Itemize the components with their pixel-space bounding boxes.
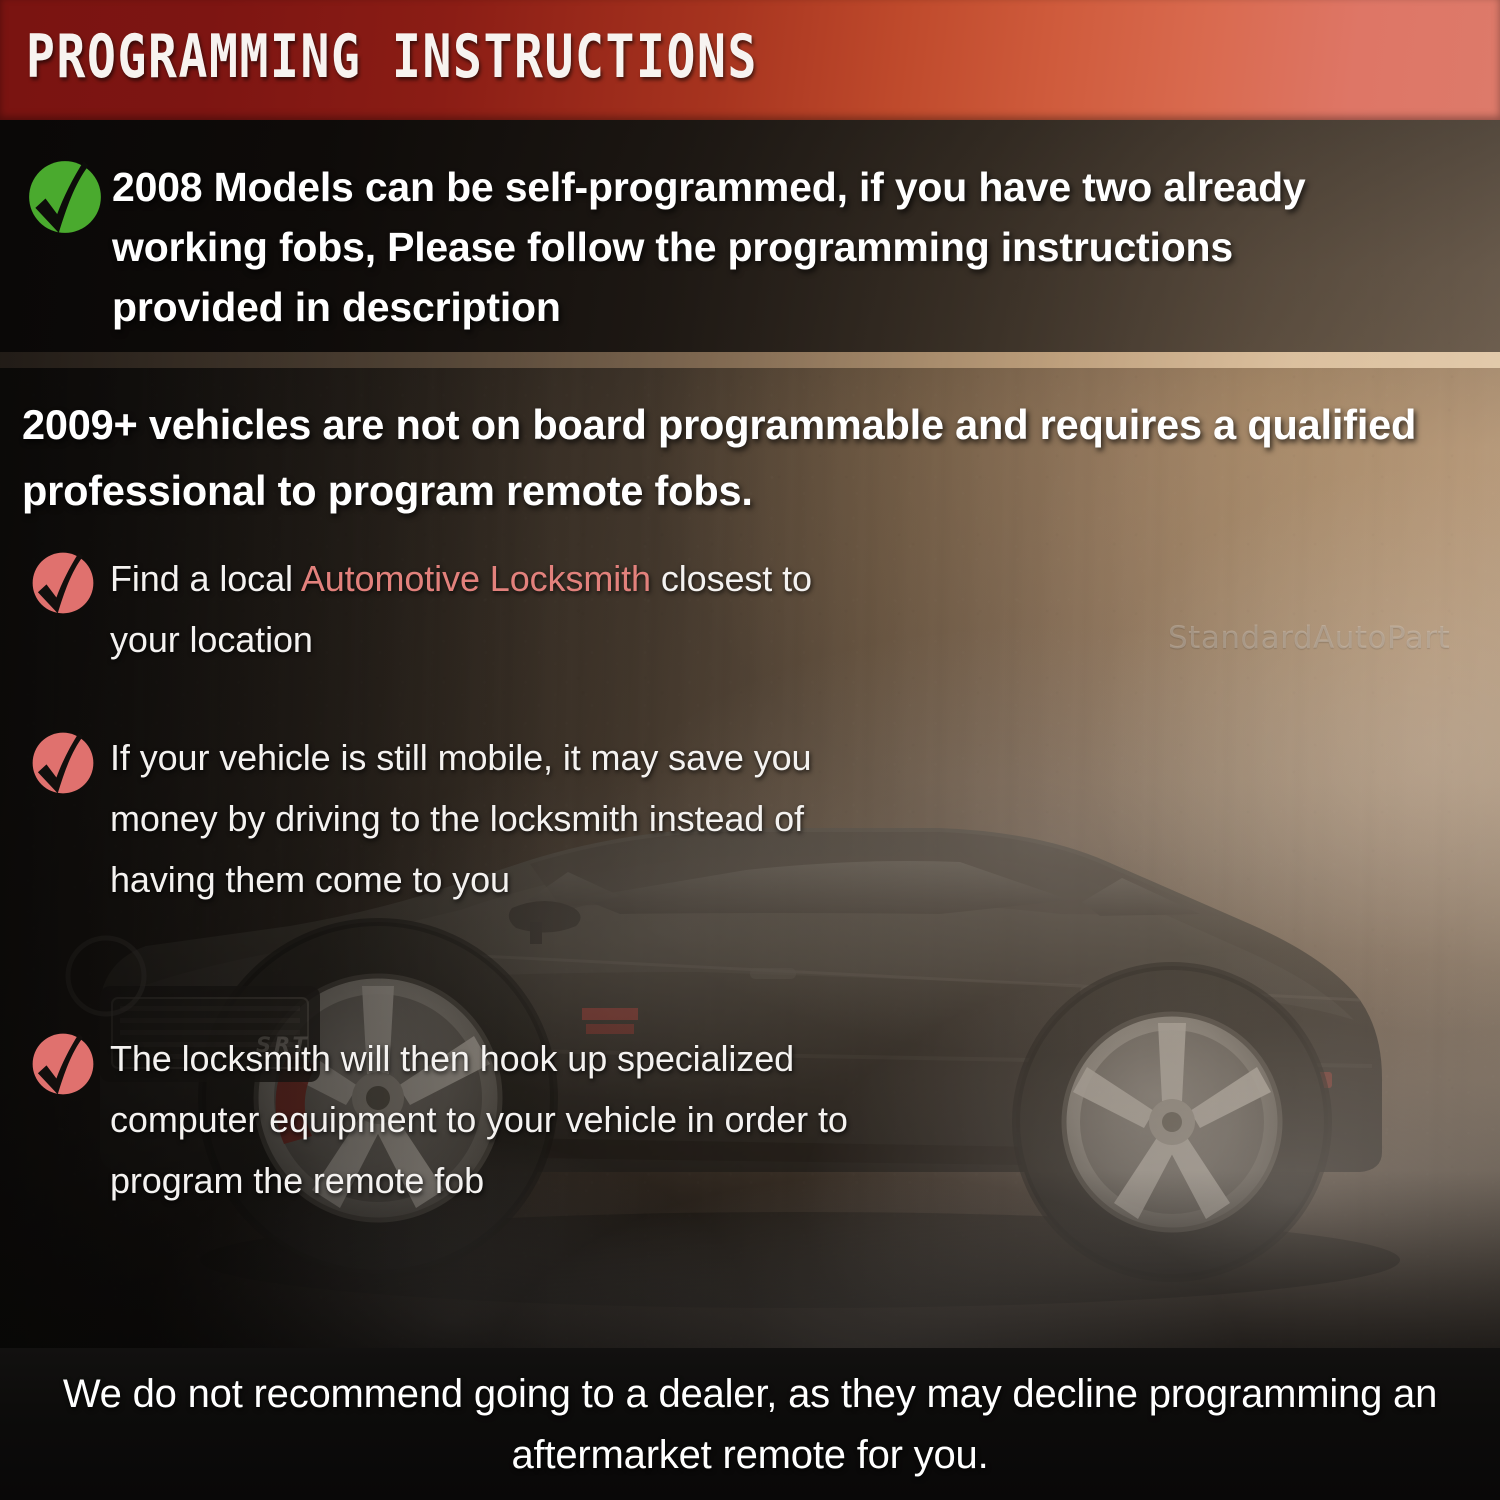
automotive-locksmith-highlight: Automotive Locksmith — [301, 558, 651, 599]
green-note-text: 2008 Models can be self-programmed, if y… — [112, 157, 1372, 337]
bullet-1-text-before: Find a local — [110, 558, 301, 599]
header-banner: PROGRAMMING INSTRUCTIONS — [0, 0, 1500, 120]
red-check-icon — [30, 550, 96, 616]
footer-disclaimer: We do not recommend going to a dealer, a… — [0, 1364, 1500, 1486]
page-title: PROGRAMMING INSTRUCTIONS — [26, 22, 758, 92]
section-divider-1 — [0, 352, 1500, 368]
bullet-item-2: If your vehicle is still mobile, it may … — [110, 727, 870, 910]
green-check-icon — [26, 158, 104, 236]
section-heading-2009: 2009+ vehicles are not on board programm… — [22, 392, 1472, 524]
bullet-item-3: The locksmith will then hook up speciali… — [110, 1028, 870, 1211]
programming-instructions-infographic: SRT StandardAutoPart PROGRAMMING INSTRUC… — [0, 0, 1500, 1500]
brand-watermark: StandardAutoPart — [1168, 620, 1450, 656]
red-check-icon — [30, 1031, 96, 1097]
red-check-icon — [30, 730, 96, 796]
bullet-item-1: Find a local Automotive Locksmith closes… — [110, 548, 870, 670]
